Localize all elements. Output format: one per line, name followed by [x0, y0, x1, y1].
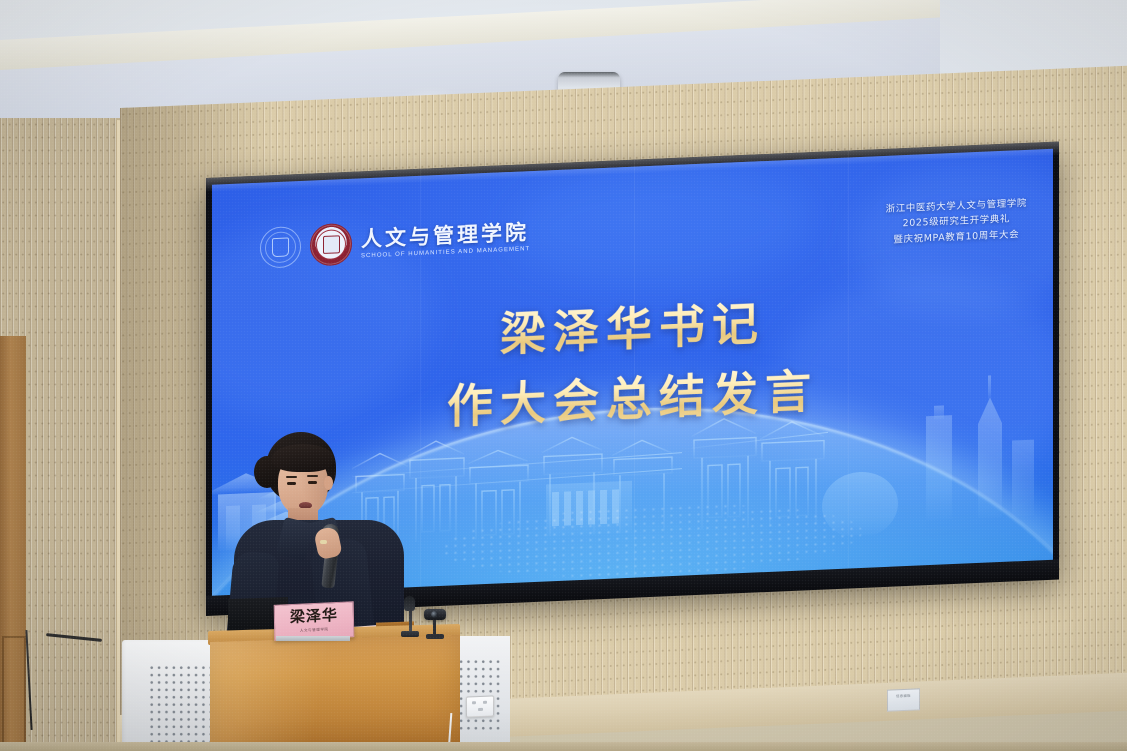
nameplate-subtitle-text: 人文与管理学院	[300, 627, 329, 633]
webcam-base	[426, 634, 444, 639]
nameplate-name-text: 梁泽华	[290, 608, 338, 625]
university-watermark-seal-icon	[260, 225, 301, 268]
presenter-brow	[286, 476, 297, 478]
presenter-eye	[287, 482, 296, 485]
wall-data-plate[interactable]: 信息面板	[887, 688, 920, 711]
presenter-eye	[308, 481, 317, 484]
event-header-block: 浙江中医药大学人文与管理学院 2025级研究生开学典礼 暨庆祝MPA教育10周年…	[886, 196, 1027, 248]
wall-plate-label: 信息面板	[889, 692, 918, 698]
podium-sheen	[210, 635, 460, 751]
podium-front-wood	[210, 635, 460, 751]
screen-panel-seam	[420, 169, 421, 605]
wall-left-return	[0, 118, 128, 751]
background-blob	[512, 159, 812, 292]
side-door[interactable]	[0, 336, 26, 751]
presenter-hair-front	[272, 444, 334, 472]
presenter-ear	[324, 476, 333, 490]
university-red-seal-icon	[310, 223, 352, 267]
speaker-nameplate: 梁泽华 人文与管理学院	[274, 601, 355, 641]
microphone-base	[401, 631, 419, 637]
webcam-lens-icon	[431, 611, 438, 618]
nameplate-stand	[276, 636, 350, 641]
college-logo-text: 人文与管理学院 SCHOOL OF HUMANITIES AND MANAGEM…	[361, 221, 530, 259]
outlet-slot	[478, 708, 483, 711]
microphone-stem	[409, 604, 412, 634]
presenter-ring	[320, 540, 327, 544]
outlet-slot	[483, 701, 487, 704]
seal-inner-mark	[272, 237, 289, 257]
seal-inner-mark	[323, 235, 340, 254]
wall-power-outlet[interactable]	[466, 695, 494, 717]
screen-panel-seam	[634, 160, 635, 596]
floor	[0, 742, 1127, 751]
outlet-slot	[472, 701, 476, 704]
door-panel	[2, 636, 26, 751]
screen-panel-seam	[848, 150, 849, 586]
photo-scene: 人文与管理学院 SCHOOL OF HUMANITIES AND MANAGEM…	[0, 0, 1127, 751]
presenter-brow	[307, 475, 318, 477]
